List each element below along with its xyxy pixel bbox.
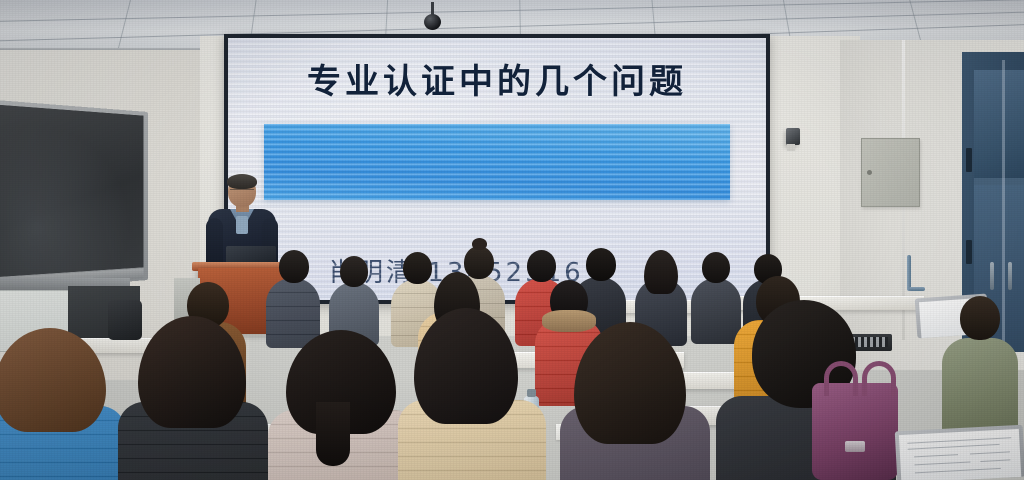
presenter-glasses-icon — [230, 189, 254, 195]
door-hinge-upper — [966, 148, 972, 172]
door-glass-upper — [974, 70, 1024, 180]
interactive-flat-panel-display[interactable] — [0, 99, 148, 294]
chair-back[interactable] — [108, 300, 142, 340]
handbag-clasp-icon — [845, 441, 865, 452]
door-mullion — [974, 178, 1024, 185]
display-screen — [0, 104, 143, 278]
slide-title-banner — [264, 124, 730, 200]
ponytail — [316, 402, 350, 466]
door-handle-left[interactable] — [990, 262, 994, 290]
door-center-split — [1002, 60, 1005, 352]
laptop-screen — [899, 429, 1021, 480]
door-handle-right[interactable] — [1008, 262, 1012, 290]
handbag-strap-left — [824, 361, 858, 396]
projection-screen: 专业认证中的几个问题 肖明清-13852516 — [228, 38, 766, 300]
wall-pipe — [907, 255, 911, 291]
handbag-strap-right — [862, 361, 896, 396]
open-laptop[interactable] — [895, 425, 1024, 480]
door-hinge-lower — [966, 240, 972, 264]
fur-hood-trim — [542, 310, 596, 332]
ceiling-dome-camera-icon — [422, 2, 444, 32]
slide-title: 专业认证中的几个问题 — [228, 54, 766, 103]
bottle-cap — [527, 389, 536, 397]
panel-lock-icon — [867, 170, 872, 175]
presenter-hair — [227, 174, 257, 189]
wall-security-camera-icon — [786, 128, 800, 145]
electrical-access-panel[interactable] — [861, 138, 920, 207]
purple-handbag[interactable] — [812, 383, 898, 480]
lecture-hall-photo: 专业认证中的几个问题 肖明清-13852516 — [0, 0, 1024, 480]
hair-bun — [472, 238, 487, 250]
presenter-shirt — [236, 216, 248, 234]
